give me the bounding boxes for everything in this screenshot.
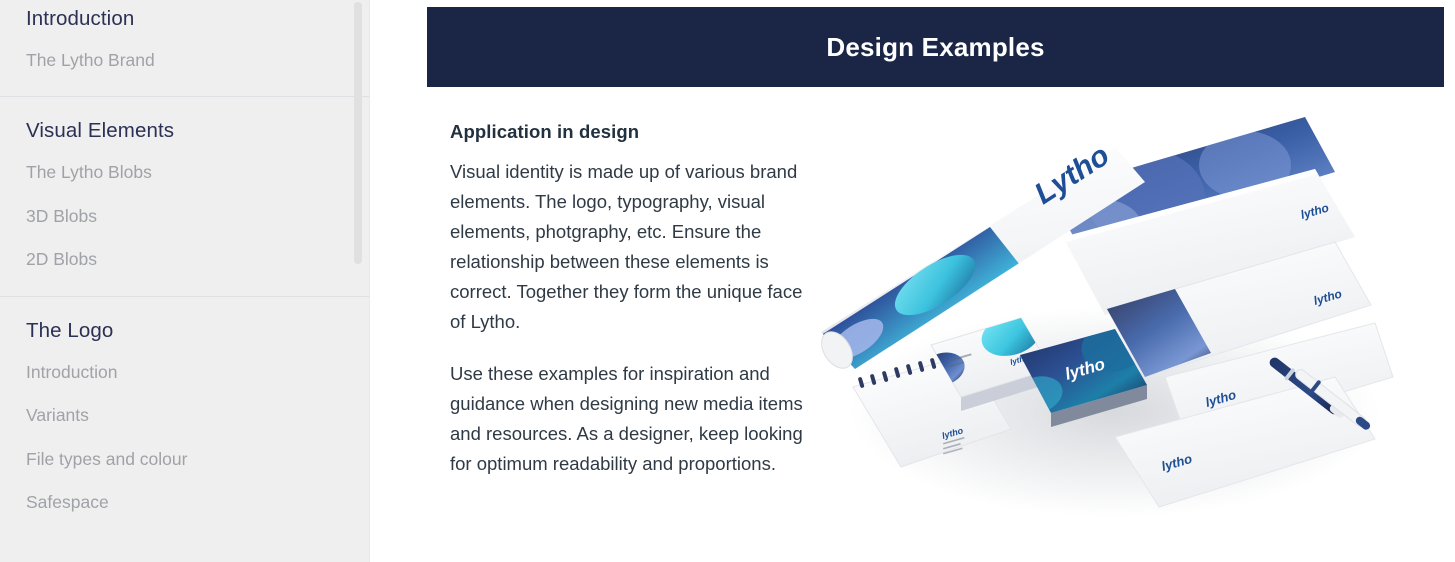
sidebar-scrollbar-thumb[interactable]: [354, 2, 362, 264]
sidebar-item-3d-blobs[interactable]: 3D Blobs: [0, 195, 370, 239]
page-title: Design Examples: [826, 32, 1044, 63]
nav-section-visual-elements: Visual Elements The Lytho Blobs 3D Blobs…: [0, 96, 370, 296]
sidebar-scrollbar-track[interactable]: [354, 0, 362, 562]
nav-section-the-logo: The Logo Introduction Variants File type…: [0, 296, 370, 539]
nav-section-title-visual-elements[interactable]: Visual Elements: [0, 112, 370, 151]
text-column: Application in design Visual identity is…: [370, 87, 825, 562]
content-body: Application in design Visual identity is…: [370, 87, 1455, 562]
main-content: Design Examples Application in design Vi…: [370, 0, 1455, 562]
page-root: Introduction The Lytho Brand Visual Elem…: [0, 0, 1455, 562]
sidebar-item-file-types-and-colour[interactable]: File types and colour: [0, 438, 370, 482]
page-banner: Design Examples: [427, 7, 1444, 87]
sidebar-scroll-container[interactable]: Introduction The Lytho Brand Visual Elem…: [0, 0, 370, 562]
sidebar-navigation: Introduction The Lytho Brand Visual Elem…: [0, 0, 370, 562]
sidebar-item-the-lytho-blobs[interactable]: The Lytho Blobs: [0, 151, 370, 195]
sidebar-item-2d-blobs[interactable]: 2D Blobs: [0, 238, 370, 282]
stationery-mockup-image: lytho Lytho: [815, 77, 1395, 547]
nav-section-title-the-logo[interactable]: The Logo: [0, 312, 370, 351]
sidebar-item-safespace[interactable]: Safespace: [0, 481, 370, 525]
section-heading: Application in design: [450, 121, 825, 143]
nav-section-title-introduction[interactable]: Introduction: [0, 0, 370, 39]
sidebar-item-the-lytho-brand[interactable]: The Lytho Brand: [0, 39, 370, 83]
sidebar-item-variants[interactable]: Variants: [0, 394, 370, 438]
paragraph-1: Visual identity is made up of various br…: [450, 157, 820, 337]
paragraph-2: Use these examples for inspiration and g…: [450, 359, 820, 479]
figure-column: lytho Lytho: [825, 87, 1455, 562]
sidebar-item-introduction[interactable]: Introduction: [0, 351, 370, 395]
nav-section-introduction: Introduction The Lytho Brand: [0, 0, 370, 96]
